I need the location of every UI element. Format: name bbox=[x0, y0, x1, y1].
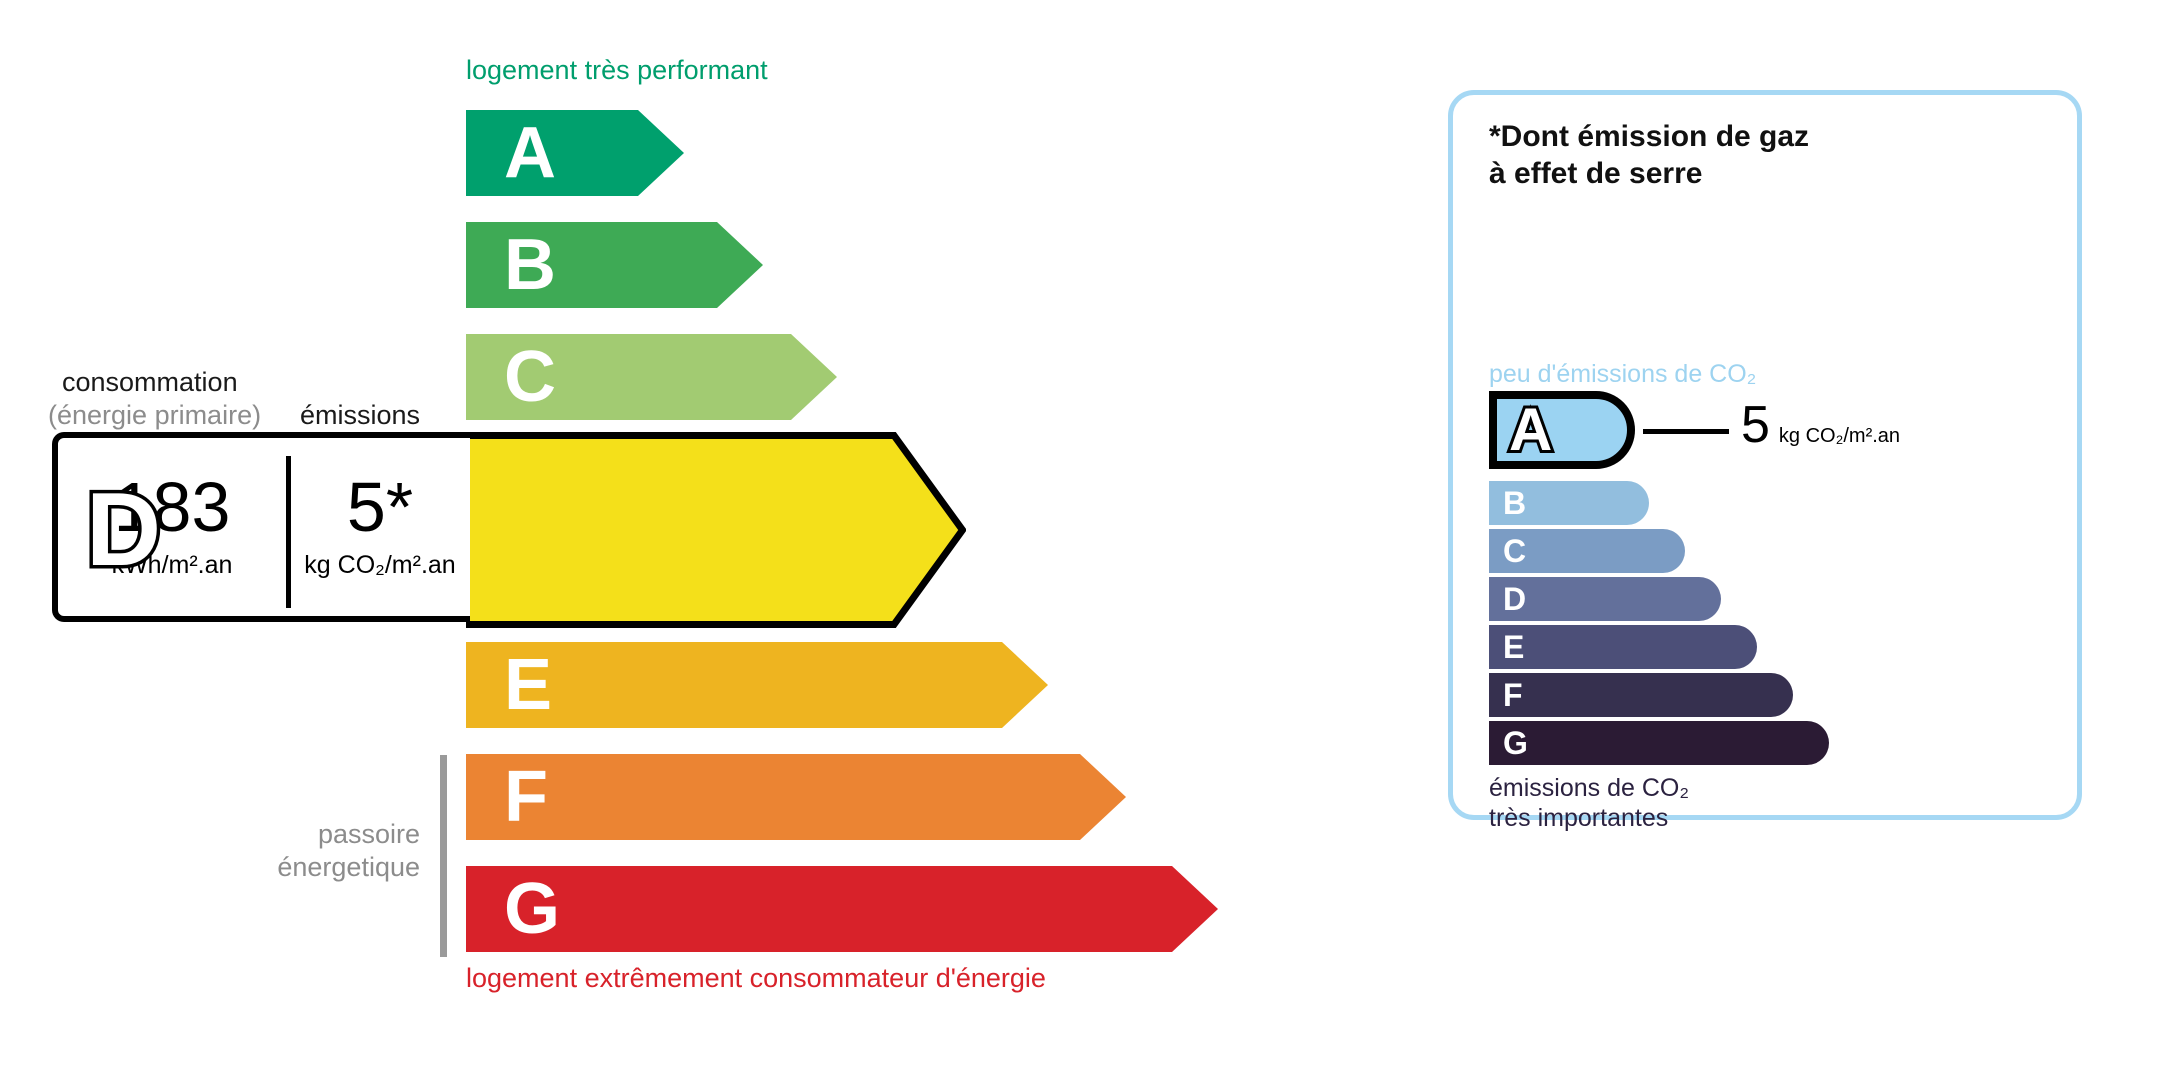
emissions-header: émissions bbox=[300, 400, 420, 431]
co2-value-number: 5 bbox=[1741, 399, 1770, 451]
co2-bar-f: F bbox=[1489, 673, 1793, 717]
energy-band-letter: E bbox=[504, 649, 552, 721]
energy-band-f: F bbox=[466, 754, 1126, 840]
energy-band-arrow-shape bbox=[466, 642, 1048, 728]
co2-bar-g: G bbox=[1489, 721, 1829, 765]
consumption-subheader: (énergie primaire) bbox=[48, 400, 261, 431]
co2-connector-line bbox=[1643, 429, 1729, 434]
co2-panel-title: *Dont émission de gaz à effet de serre bbox=[1489, 119, 1809, 193]
energy-band-a: A bbox=[466, 110, 684, 196]
energy-band-arrow-shape bbox=[466, 110, 684, 196]
co2-bar-b: B bbox=[1489, 481, 1649, 525]
co2-bottom-caption: émissions de CO₂ très importantes bbox=[1489, 773, 1689, 833]
energy-band-g: G bbox=[466, 866, 1218, 952]
consumption-header: consommation bbox=[62, 367, 238, 398]
co2-bar-e: E bbox=[1489, 625, 1757, 669]
co2-panel: *Dont émission de gaz à effet de serre p… bbox=[1448, 90, 2082, 820]
selected-grade-row: 183 kWh/m².an 5* kg CO₂/m².an D bbox=[52, 432, 964, 628]
co2-selected-badge: A bbox=[1489, 391, 1635, 469]
bottom-caption: logement extrêmement consommateur d'éner… bbox=[466, 963, 1046, 994]
co2-bar-letter: C bbox=[1503, 535, 1526, 567]
top-caption: logement très performant bbox=[466, 55, 768, 86]
co2-bar-letter: B bbox=[1503, 487, 1526, 519]
energy-band-b: B bbox=[466, 222, 763, 308]
dpe-energy-label: logement très performant ABCEFG passoire… bbox=[0, 0, 1300, 1079]
energy-band-c: C bbox=[466, 334, 837, 420]
emissions-value: 5* bbox=[347, 474, 413, 541]
co2-top-caption: peu d'émissions de CO₂ bbox=[1489, 360, 1756, 389]
energy-band-letter: F bbox=[504, 761, 548, 833]
co2-selected-letter: A bbox=[1509, 400, 1552, 460]
energy-band-letter: C bbox=[504, 341, 556, 413]
co2-bar-c: C bbox=[1489, 529, 1685, 573]
energy-band-arrow-shape bbox=[466, 754, 1126, 840]
energy-band-e: E bbox=[466, 642, 1048, 728]
energy-band-letter: G bbox=[504, 873, 560, 945]
co2-bar-letter: G bbox=[1503, 727, 1528, 759]
energy-band-letter: B bbox=[504, 229, 556, 301]
selected-grade-arrow bbox=[466, 432, 966, 628]
co2-bar-d: D bbox=[1489, 577, 1721, 621]
passoire-bracket bbox=[440, 755, 447, 957]
co2-value-group: 5 kg CO₂/m².an bbox=[1741, 399, 1900, 451]
selected-arrow-shape bbox=[466, 432, 966, 628]
passoire-label: passoire énergetique bbox=[192, 818, 420, 884]
selected-grade-letter: D bbox=[86, 478, 161, 582]
co2-bar-letter: E bbox=[1503, 631, 1524, 663]
emissions-unit: kg CO₂/m².an bbox=[304, 551, 455, 580]
energy-band-arrow-shape bbox=[466, 866, 1218, 952]
co2-value-unit: kg CO₂/m².an bbox=[1779, 425, 1900, 448]
energy-band-letter: A bbox=[504, 117, 556, 189]
co2-bar-letter: D bbox=[1503, 583, 1526, 615]
co2-bar-letter: F bbox=[1503, 679, 1523, 711]
emissions-cell: 5* kg CO₂/m².an bbox=[290, 438, 470, 616]
